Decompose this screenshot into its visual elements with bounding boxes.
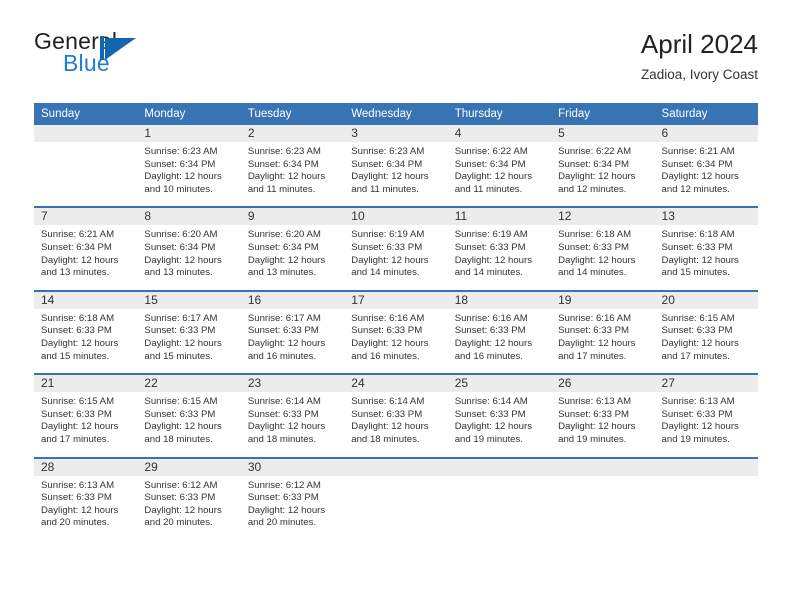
daylight-duration-line1: Daylight: 12 hours: [248, 171, 338, 184]
sunrise-time: Sunrise: 6:15 AM: [662, 313, 752, 326]
day-number: 29: [137, 459, 240, 476]
day-number: 10: [344, 208, 447, 225]
day-details: Sunrise: 6:18 AMSunset: 6:33 PMDaylight:…: [551, 225, 654, 289]
daylight-duration-line1: Daylight: 12 hours: [662, 171, 752, 184]
sunset-time: Sunset: 6:33 PM: [558, 409, 648, 422]
day-details: Sunrise: 6:19 AMSunset: 6:33 PMDaylight:…: [344, 225, 447, 289]
sunset-time: Sunset: 6:34 PM: [248, 159, 338, 172]
day-number: 9: [241, 208, 344, 225]
sunrise-time: Sunrise: 6:18 AM: [662, 229, 752, 242]
weekday-header-wednesday: Wednesday: [344, 103, 447, 125]
daylight-duration-line1: Daylight: 12 hours: [248, 338, 338, 351]
calendar-day-cell[interactable]: 10Sunrise: 6:19 AMSunset: 6:33 PMDayligh…: [344, 207, 447, 290]
day-number: [655, 459, 758, 476]
calendar-day-cell[interactable]: 2Sunrise: 6:23 AMSunset: 6:34 PMDaylight…: [241, 125, 344, 207]
daylight-duration-line2: and 14 minutes.: [351, 267, 441, 280]
calendar-day-cell-empty: [448, 458, 551, 540]
sunset-time: Sunset: 6:33 PM: [662, 325, 752, 338]
calendar-day-cell[interactable]: 16Sunrise: 6:17 AMSunset: 6:33 PMDayligh…: [241, 291, 344, 374]
sunrise-time: Sunrise: 6:12 AM: [144, 480, 234, 493]
daylight-duration-line2: and 16 minutes.: [351, 351, 441, 364]
sunrise-time: Sunrise: 6:17 AM: [144, 313, 234, 326]
day-number: 22: [137, 375, 240, 392]
day-details: Sunrise: 6:12 AMSunset: 6:33 PMDaylight:…: [241, 476, 344, 540]
daylight-duration-line2: and 15 minutes.: [662, 267, 752, 280]
daylight-duration-line1: Daylight: 12 hours: [41, 338, 131, 351]
calendar-day-cell[interactable]: 17Sunrise: 6:16 AMSunset: 6:33 PMDayligh…: [344, 291, 447, 374]
daylight-duration-line1: Daylight: 12 hours: [351, 171, 441, 184]
calendar-day-cell[interactable]: 1Sunrise: 6:23 AMSunset: 6:34 PMDaylight…: [137, 125, 240, 207]
day-number: 18: [448, 292, 551, 309]
daylight-duration-line2: and 11 minutes.: [248, 184, 338, 197]
day-details: Sunrise: 6:23 AMSunset: 6:34 PMDaylight:…: [344, 142, 447, 206]
daylight-duration-line1: Daylight: 12 hours: [248, 505, 338, 518]
sunset-time: Sunset: 6:33 PM: [558, 242, 648, 255]
sunset-time: Sunset: 6:33 PM: [558, 325, 648, 338]
day-number: 21: [34, 375, 137, 392]
daylight-duration-line2: and 17 minutes.: [662, 351, 752, 364]
daylight-duration-line2: and 20 minutes.: [144, 517, 234, 530]
day-details: Sunrise: 6:20 AMSunset: 6:34 PMDaylight:…: [137, 225, 240, 289]
month-calendar-table: Sunday Monday Tuesday Wednesday Thursday…: [34, 103, 758, 540]
sunrise-time: Sunrise: 6:23 AM: [248, 146, 338, 159]
daylight-duration-line1: Daylight: 12 hours: [248, 255, 338, 268]
calendar-day-cell[interactable]: 6Sunrise: 6:21 AMSunset: 6:34 PMDaylight…: [655, 125, 758, 207]
daylight-duration-line1: Daylight: 12 hours: [144, 255, 234, 268]
daylight-duration-line1: Daylight: 12 hours: [455, 421, 545, 434]
sunset-time: Sunset: 6:34 PM: [662, 159, 752, 172]
calendar-day-cell[interactable]: 23Sunrise: 6:14 AMSunset: 6:33 PMDayligh…: [241, 374, 344, 457]
page-title: April 2024: [641, 28, 758, 60]
daylight-duration-line1: Daylight: 12 hours: [351, 255, 441, 268]
calendar-week-row: 28Sunrise: 6:13 AMSunset: 6:33 PMDayligh…: [34, 458, 758, 540]
day-details: Sunrise: 6:14 AMSunset: 6:33 PMDaylight:…: [448, 392, 551, 456]
sunrise-time: Sunrise: 6:20 AM: [144, 229, 234, 242]
daylight-duration-line2: and 13 minutes.: [144, 267, 234, 280]
sunset-time: Sunset: 6:34 PM: [455, 159, 545, 172]
calendar-day-cell[interactable]: 20Sunrise: 6:15 AMSunset: 6:33 PMDayligh…: [655, 291, 758, 374]
brand-logo[interactable]: General Blue: [34, 28, 254, 88]
sunrise-time: Sunrise: 6:15 AM: [144, 396, 234, 409]
page-header: General Blue April 2024 Zadioa, Ivory Co…: [34, 28, 758, 96]
sunset-time: Sunset: 6:34 PM: [351, 159, 441, 172]
day-details: Sunrise: 6:17 AMSunset: 6:33 PMDaylight:…: [137, 309, 240, 373]
sunset-time: Sunset: 6:33 PM: [41, 325, 131, 338]
sunrise-time: Sunrise: 6:16 AM: [351, 313, 441, 326]
day-number: 11: [448, 208, 551, 225]
day-number: 15: [137, 292, 240, 309]
weekday-header-sunday: Sunday: [34, 103, 137, 125]
sunrise-time: Sunrise: 6:21 AM: [41, 229, 131, 242]
day-details: Sunrise: 6:16 AMSunset: 6:33 PMDaylight:…: [344, 309, 447, 373]
sunset-time: Sunset: 6:33 PM: [144, 325, 234, 338]
daylight-duration-line1: Daylight: 12 hours: [455, 338, 545, 351]
daylight-duration-line2: and 18 minutes.: [248, 434, 338, 447]
daylight-duration-line2: and 17 minutes.: [558, 351, 648, 364]
daylight-duration-line2: and 16 minutes.: [455, 351, 545, 364]
daylight-duration-line2: and 15 minutes.: [41, 351, 131, 364]
day-number: 13: [655, 208, 758, 225]
day-number: 6: [655, 125, 758, 142]
day-details: Sunrise: 6:15 AMSunset: 6:33 PMDaylight:…: [655, 309, 758, 373]
title-block: April 2024 Zadioa, Ivory Coast: [641, 28, 758, 85]
sunrise-time: Sunrise: 6:12 AM: [248, 480, 338, 493]
day-details: Sunrise: 6:21 AMSunset: 6:34 PMDaylight:…: [34, 225, 137, 289]
calendar-day-cell[interactable]: 24Sunrise: 6:14 AMSunset: 6:33 PMDayligh…: [344, 374, 447, 457]
day-number: 27: [655, 375, 758, 392]
daylight-duration-line1: Daylight: 12 hours: [558, 171, 648, 184]
daylight-duration-line1: Daylight: 12 hours: [144, 171, 234, 184]
day-number: 28: [34, 459, 137, 476]
sunrise-time: Sunrise: 6:16 AM: [558, 313, 648, 326]
sunset-time: Sunset: 6:34 PM: [558, 159, 648, 172]
flag-triangle-icon: [100, 36, 138, 60]
day-number: [551, 459, 654, 476]
day-number: 3: [344, 125, 447, 142]
calendar-header-row: Sunday Monday Tuesday Wednesday Thursday…: [34, 103, 758, 125]
day-details: Sunrise: 6:19 AMSunset: 6:33 PMDaylight:…: [448, 225, 551, 289]
day-details: Sunrise: 6:23 AMSunset: 6:34 PMDaylight:…: [137, 142, 240, 206]
day-details: Sunrise: 6:22 AMSunset: 6:34 PMDaylight:…: [448, 142, 551, 206]
day-number: 2: [241, 125, 344, 142]
calendar-day-cell-empty: [34, 125, 137, 207]
daylight-duration-line2: and 10 minutes.: [144, 184, 234, 197]
calendar-day-cell[interactable]: 29Sunrise: 6:12 AMSunset: 6:33 PMDayligh…: [137, 458, 240, 540]
daylight-duration-line1: Daylight: 12 hours: [455, 171, 545, 184]
calendar-day-cell[interactable]: 8Sunrise: 6:20 AMSunset: 6:34 PMDaylight…: [137, 207, 240, 290]
sunrise-time: Sunrise: 6:19 AM: [351, 229, 441, 242]
sunrise-time: Sunrise: 6:14 AM: [248, 396, 338, 409]
logo-triangle-shape: [105, 38, 136, 60]
day-number: 20: [655, 292, 758, 309]
weekday-header-tuesday: Tuesday: [241, 103, 344, 125]
calendar-day-cell[interactable]: 27Sunrise: 6:13 AMSunset: 6:33 PMDayligh…: [655, 374, 758, 457]
daylight-duration-line1: Daylight: 12 hours: [144, 421, 234, 434]
sunrise-time: Sunrise: 6:14 AM: [351, 396, 441, 409]
sunset-time: Sunset: 6:33 PM: [662, 242, 752, 255]
daylight-duration-line1: Daylight: 12 hours: [144, 338, 234, 351]
sunrise-time: Sunrise: 6:23 AM: [351, 146, 441, 159]
day-details: Sunrise: 6:14 AMSunset: 6:33 PMDaylight:…: [241, 392, 344, 456]
daylight-duration-line2: and 18 minutes.: [351, 434, 441, 447]
sunrise-time: Sunrise: 6:17 AM: [248, 313, 338, 326]
calendar-day-cell[interactable]: 30Sunrise: 6:12 AMSunset: 6:33 PMDayligh…: [241, 458, 344, 540]
weekday-header-saturday: Saturday: [655, 103, 758, 125]
calendar-day-cell[interactable]: 12Sunrise: 6:18 AMSunset: 6:33 PMDayligh…: [551, 207, 654, 290]
sunset-time: Sunset: 6:33 PM: [455, 242, 545, 255]
day-number: 17: [344, 292, 447, 309]
calendar-week-row: 1Sunrise: 6:23 AMSunset: 6:34 PMDaylight…: [34, 125, 758, 207]
daylight-duration-line2: and 12 minutes.: [558, 184, 648, 197]
sunset-time: Sunset: 6:33 PM: [351, 409, 441, 422]
day-number: 26: [551, 375, 654, 392]
sunset-time: Sunset: 6:33 PM: [351, 242, 441, 255]
calendar-day-cell[interactable]: 4Sunrise: 6:22 AMSunset: 6:34 PMDaylight…: [448, 125, 551, 207]
daylight-duration-line1: Daylight: 12 hours: [41, 421, 131, 434]
sunrise-time: Sunrise: 6:20 AM: [248, 229, 338, 242]
calendar-day-cell[interactable]: 13Sunrise: 6:18 AMSunset: 6:33 PMDayligh…: [655, 207, 758, 290]
day-number: 7: [34, 208, 137, 225]
daylight-duration-line1: Daylight: 12 hours: [41, 255, 131, 268]
day-details: Sunrise: 6:15 AMSunset: 6:33 PMDaylight:…: [34, 392, 137, 456]
sunset-time: Sunset: 6:33 PM: [41, 492, 131, 505]
day-number: 14: [34, 292, 137, 309]
sunset-time: Sunset: 6:34 PM: [41, 242, 131, 255]
calendar-day-cell[interactable]: 25Sunrise: 6:14 AMSunset: 6:33 PMDayligh…: [448, 374, 551, 457]
daylight-duration-line1: Daylight: 12 hours: [558, 338, 648, 351]
day-details: Sunrise: 6:14 AMSunset: 6:33 PMDaylight:…: [344, 392, 447, 456]
sunset-time: Sunset: 6:34 PM: [144, 159, 234, 172]
sunset-time: Sunset: 6:33 PM: [144, 409, 234, 422]
calendar-day-cell[interactable]: 14Sunrise: 6:18 AMSunset: 6:33 PMDayligh…: [34, 291, 137, 374]
sunset-time: Sunset: 6:34 PM: [248, 242, 338, 255]
calendar-day-cell[interactable]: 11Sunrise: 6:19 AMSunset: 6:33 PMDayligh…: [448, 207, 551, 290]
page-subtitle: Zadioa, Ivory Coast: [641, 65, 758, 85]
calendar-day-cell[interactable]: 18Sunrise: 6:16 AMSunset: 6:33 PMDayligh…: [448, 291, 551, 374]
sunset-time: Sunset: 6:33 PM: [351, 325, 441, 338]
calendar-week-row: 7Sunrise: 6:21 AMSunset: 6:34 PMDaylight…: [34, 207, 758, 290]
day-details: Sunrise: 6:13 AMSunset: 6:33 PMDaylight:…: [655, 392, 758, 456]
sunrise-time: Sunrise: 6:14 AM: [455, 396, 545, 409]
sunrise-time: Sunrise: 6:13 AM: [41, 480, 131, 493]
daylight-duration-line1: Daylight: 12 hours: [41, 505, 131, 518]
daylight-duration-line1: Daylight: 12 hours: [144, 505, 234, 518]
calendar-page: General Blue April 2024 Zadioa, Ivory Co…: [0, 0, 792, 612]
day-number: 24: [344, 375, 447, 392]
sunset-time: Sunset: 6:33 PM: [248, 492, 338, 505]
daylight-duration-line1: Daylight: 12 hours: [455, 255, 545, 268]
day-details: Sunrise: 6:12 AMSunset: 6:33 PMDaylight:…: [137, 476, 240, 540]
daylight-duration-line2: and 13 minutes.: [248, 267, 338, 280]
daylight-duration-line2: and 19 minutes.: [662, 434, 752, 447]
calendar-day-cell[interactable]: 3Sunrise: 6:23 AMSunset: 6:34 PMDaylight…: [344, 125, 447, 207]
daylight-duration-line2: and 12 minutes.: [662, 184, 752, 197]
calendar-day-cell-empty: [551, 458, 654, 540]
daylight-duration-line2: and 20 minutes.: [248, 517, 338, 530]
day-details: Sunrise: 6:21 AMSunset: 6:34 PMDaylight:…: [655, 142, 758, 206]
day-number: 23: [241, 375, 344, 392]
sunrise-time: Sunrise: 6:22 AM: [558, 146, 648, 159]
sunrise-time: Sunrise: 6:15 AM: [41, 396, 131, 409]
weekday-header-monday: Monday: [137, 103, 240, 125]
daylight-duration-line2: and 11 minutes.: [351, 184, 441, 197]
sunrise-time: Sunrise: 6:16 AM: [455, 313, 545, 326]
daylight-duration-line2: and 15 minutes.: [144, 351, 234, 364]
day-details: Sunrise: 6:15 AMSunset: 6:33 PMDaylight:…: [137, 392, 240, 456]
day-details: Sunrise: 6:17 AMSunset: 6:33 PMDaylight:…: [241, 309, 344, 373]
daylight-duration-line2: and 19 minutes.: [558, 434, 648, 447]
day-details: Sunrise: 6:18 AMSunset: 6:33 PMDaylight:…: [655, 225, 758, 289]
calendar-day-cell[interactable]: 22Sunrise: 6:15 AMSunset: 6:33 PMDayligh…: [137, 374, 240, 457]
calendar-day-cell[interactable]: 26Sunrise: 6:13 AMSunset: 6:33 PMDayligh…: [551, 374, 654, 457]
daylight-duration-line2: and 13 minutes.: [41, 267, 131, 280]
calendar-week-row: 14Sunrise: 6:18 AMSunset: 6:33 PMDayligh…: [34, 291, 758, 374]
day-details: Sunrise: 6:20 AMSunset: 6:34 PMDaylight:…: [241, 225, 344, 289]
day-number: 12: [551, 208, 654, 225]
sunset-time: Sunset: 6:33 PM: [455, 325, 545, 338]
daylight-duration-line2: and 17 minutes.: [41, 434, 131, 447]
weekday-header-thursday: Thursday: [448, 103, 551, 125]
day-number: [448, 459, 551, 476]
calendar-body: 1Sunrise: 6:23 AMSunset: 6:34 PMDaylight…: [34, 125, 758, 540]
daylight-duration-line2: and 14 minutes.: [455, 267, 545, 280]
calendar-day-cell[interactable]: 7Sunrise: 6:21 AMSunset: 6:34 PMDaylight…: [34, 207, 137, 290]
calendar-day-cell[interactable]: 5Sunrise: 6:22 AMSunset: 6:34 PMDaylight…: [551, 125, 654, 207]
sunrise-time: Sunrise: 6:22 AM: [455, 146, 545, 159]
daylight-duration-line2: and 18 minutes.: [144, 434, 234, 447]
day-number: 25: [448, 375, 551, 392]
day-number: 5: [551, 125, 654, 142]
calendar-week-row: 21Sunrise: 6:15 AMSunset: 6:33 PMDayligh…: [34, 374, 758, 457]
daylight-duration-line2: and 14 minutes.: [558, 267, 648, 280]
daylight-duration-line1: Daylight: 12 hours: [248, 421, 338, 434]
sunset-time: Sunset: 6:33 PM: [248, 409, 338, 422]
sunrise-time: Sunrise: 6:18 AM: [41, 313, 131, 326]
sunset-time: Sunset: 6:33 PM: [144, 492, 234, 505]
sunrise-time: Sunrise: 6:13 AM: [662, 396, 752, 409]
daylight-duration-line1: Daylight: 12 hours: [662, 338, 752, 351]
day-number: 8: [137, 208, 240, 225]
day-number: 19: [551, 292, 654, 309]
day-number: 1: [137, 125, 240, 142]
daylight-duration-line2: and 19 minutes.: [455, 434, 545, 447]
daylight-duration-line1: Daylight: 12 hours: [351, 421, 441, 434]
daylight-duration-line2: and 16 minutes.: [248, 351, 338, 364]
day-number: 30: [241, 459, 344, 476]
daylight-duration-line2: and 20 minutes.: [41, 517, 131, 530]
day-details: Sunrise: 6:13 AMSunset: 6:33 PMDaylight:…: [34, 476, 137, 540]
sunrise-time: Sunrise: 6:23 AM: [144, 146, 234, 159]
sunrise-time: Sunrise: 6:19 AM: [455, 229, 545, 242]
sunset-time: Sunset: 6:34 PM: [144, 242, 234, 255]
day-details: Sunrise: 6:22 AMSunset: 6:34 PMDaylight:…: [551, 142, 654, 206]
sunset-time: Sunset: 6:33 PM: [41, 409, 131, 422]
day-details: Sunrise: 6:16 AMSunset: 6:33 PMDaylight:…: [551, 309, 654, 373]
calendar-day-cell[interactable]: 19Sunrise: 6:16 AMSunset: 6:33 PMDayligh…: [551, 291, 654, 374]
day-details: Sunrise: 6:23 AMSunset: 6:34 PMDaylight:…: [241, 142, 344, 206]
daylight-duration-line1: Daylight: 12 hours: [662, 255, 752, 268]
sunrise-time: Sunrise: 6:18 AM: [558, 229, 648, 242]
calendar-day-cell[interactable]: 28Sunrise: 6:13 AMSunset: 6:33 PMDayligh…: [34, 458, 137, 540]
calendar-day-cell[interactable]: 9Sunrise: 6:20 AMSunset: 6:34 PMDaylight…: [241, 207, 344, 290]
day-number: [34, 125, 137, 142]
daylight-duration-line1: Daylight: 12 hours: [351, 338, 441, 351]
daylight-duration-line1: Daylight: 12 hours: [558, 421, 648, 434]
sunrise-time: Sunrise: 6:13 AM: [558, 396, 648, 409]
day-number: [344, 459, 447, 476]
sunset-time: Sunset: 6:33 PM: [455, 409, 545, 422]
weekday-header-friday: Friday: [551, 103, 654, 125]
daylight-duration-line1: Daylight: 12 hours: [662, 421, 752, 434]
calendar-day-cell[interactable]: 21Sunrise: 6:15 AMSunset: 6:33 PMDayligh…: [34, 374, 137, 457]
day-details: Sunrise: 6:18 AMSunset: 6:33 PMDaylight:…: [34, 309, 137, 373]
calendar-day-cell-empty: [655, 458, 758, 540]
day-number: 16: [241, 292, 344, 309]
day-details: Sunrise: 6:16 AMSunset: 6:33 PMDaylight:…: [448, 309, 551, 373]
sunset-time: Sunset: 6:33 PM: [248, 325, 338, 338]
daylight-duration-line2: and 11 minutes.: [455, 184, 545, 197]
day-number: 4: [448, 125, 551, 142]
sunrise-time: Sunrise: 6:21 AM: [662, 146, 752, 159]
daylight-duration-line1: Daylight: 12 hours: [558, 255, 648, 268]
logo-bar-shape: [100, 36, 104, 60]
sunset-time: Sunset: 6:33 PM: [662, 409, 752, 422]
day-details: Sunrise: 6:13 AMSunset: 6:33 PMDaylight:…: [551, 392, 654, 456]
calendar-day-cell-empty: [344, 458, 447, 540]
calendar-day-cell[interactable]: 15Sunrise: 6:17 AMSunset: 6:33 PMDayligh…: [137, 291, 240, 374]
